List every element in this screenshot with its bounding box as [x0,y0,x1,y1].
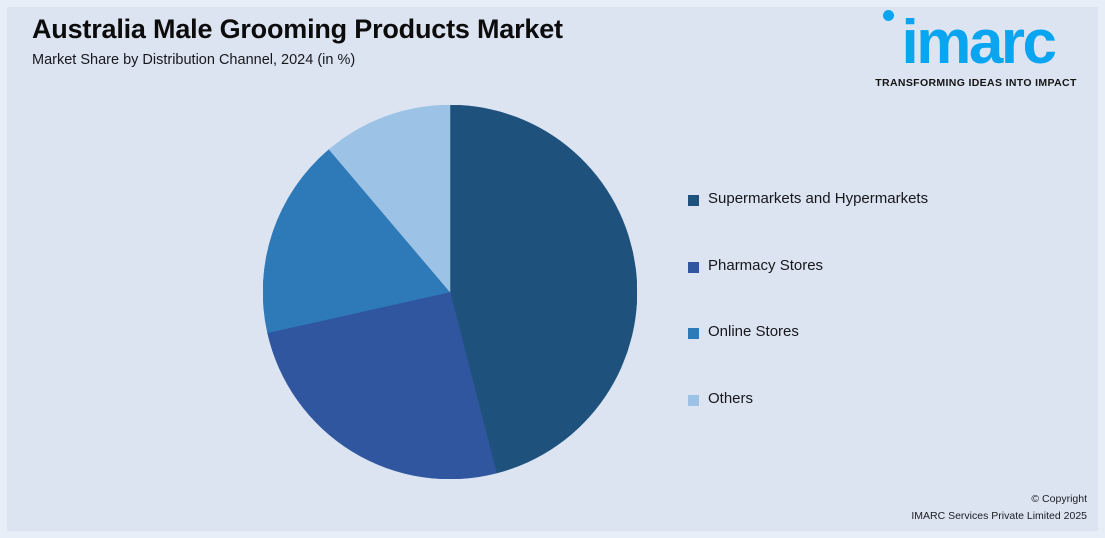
page-subtitle: Market Share by Distribution Channel, 20… [32,52,732,68]
legend-item[interactable]: Supermarkets and Hypermarkets [688,188,1088,255]
legend-item-label: Pharmacy Stores [708,255,823,277]
pie-chart-svg [263,105,637,479]
legend-item[interactable]: Online Stores [688,321,1088,388]
page-title: Australia Male Grooming Products Market [32,14,732,45]
imarc-logo: imarc TRANSFORMING IDEAS INTO IMPACT [865,16,1087,89]
copyright-line-2: IMARC Services Private Limited 2025 [911,508,1087,524]
legend-item[interactable]: Pharmacy Stores [688,255,1088,322]
legend-swatch-icon [688,395,699,406]
logo-wordmark-group: imarc [865,16,1087,74]
copyright-line-1: © Copyright [911,491,1087,507]
chart-legend: Supermarkets and HypermarketsPharmacy St… [688,188,1088,454]
copyright-notice: © Copyright IMARC Services Private Limit… [911,491,1087,524]
legend-swatch-icon [688,195,699,206]
logo-wordmark-text: imarc [902,8,1055,77]
pie-slice-group [263,105,637,479]
legend-swatch-icon [688,262,699,273]
pie-chart [263,105,637,479]
legend-item[interactable]: Others [688,388,1088,455]
legend-swatch-icon [688,328,699,339]
legend-item-label: Online Stores [708,321,799,343]
header: Australia Male Grooming Products Market … [32,14,732,68]
legend-item-label: Supermarkets and Hypermarkets [708,188,928,210]
logo-tagline: TRANSFORMING IDEAS INTO IMPACT [865,77,1087,89]
infographic-canvas: Australia Male Grooming Products Market … [0,0,1105,538]
legend-item-label: Others [708,388,753,410]
logo-dot-icon [883,10,894,21]
